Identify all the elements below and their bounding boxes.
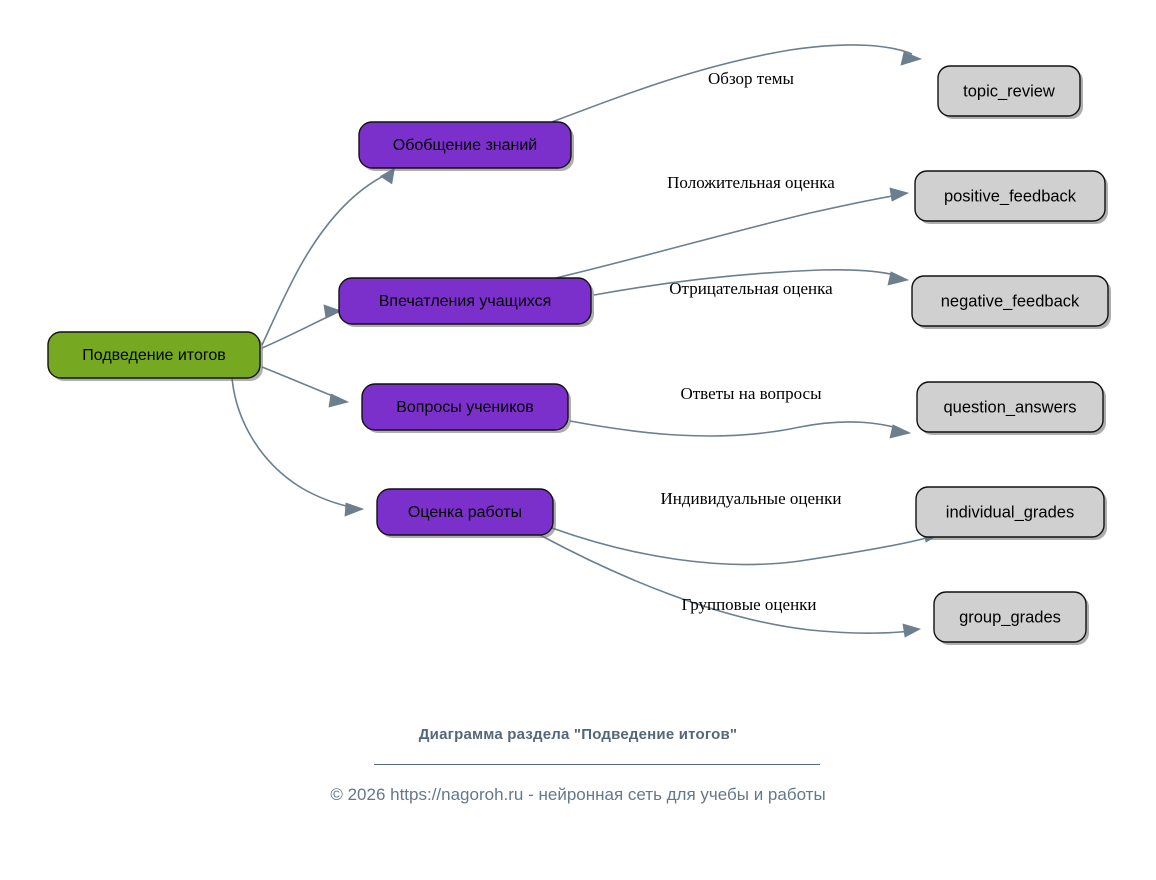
edge-label-question-answers: Ответы на вопросы [680,384,822,403]
edge-label-topic-review: Обзор темы [708,69,795,88]
footer-divider [374,764,820,765]
nodes-layer: Подведение итогов Обобщение знаний Впеча… [48,66,1111,645]
edge-label-positive-feedback: Положительная оценка [667,173,835,192]
node-leaf-question-answers[interactable]: question_answers [917,382,1106,435]
node-leaf-5-label: individual_grades [946,503,1074,521]
node-leaf-2-label: positive_feedback [944,187,1077,205]
node-branch-questions[interactable]: Вопросы учеников [362,384,571,433]
edge-labels-layer: Обзор темы Положительная оценка Отрицате… [660,69,841,614]
footer-credit: © 2026 https://nagoroh.ru - нейронная се… [0,785,1156,805]
node-leaf-4-label: question_answers [944,398,1077,416]
edge-label-individual-grades: Индивидуальные оценки [660,489,841,508]
node-root-summary[interactable]: Подведение итогов [48,332,263,381]
edge-questions-to-question-answers[interactable] [570,421,910,438]
node-branch-2-label: Впечатления учащихся [379,293,552,310]
node-branch-assessment[interactable]: Оценка работы [377,489,556,538]
node-branch-impressions[interactable]: Впечатления учащихся [339,278,594,327]
node-leaf-negative-feedback[interactable]: negative_feedback [912,276,1111,329]
node-leaf-3-label: negative_feedback [941,292,1080,310]
diagram-caption: Диаграмма раздела "Подведение итогов" [0,726,1156,743]
node-branch-1-label: Обобщение знаний [393,137,537,154]
node-branch-generalization[interactable]: Обобщение знаний [359,122,574,171]
node-leaf-topic-review[interactable]: topic_review [938,66,1083,119]
edge-root-to-questions[interactable] [262,367,348,407]
edge-impressions-to-positive-feedback[interactable] [556,188,908,278]
node-leaf-1-label: topic_review [963,82,1055,100]
edge-root-to-impressions[interactable] [262,305,341,348]
edge-assessment-to-individual-grades[interactable] [552,528,940,565]
diagram-svg: Обзор темы Положительная оценка Отрицате… [0,0,1156,880]
node-branch-3-label: Вопросы учеников [396,399,534,416]
node-branch-4-label: Оценка работы [408,504,522,521]
edge-label-negative-feedback: Отрицательная оценка [669,279,833,298]
node-leaf-positive-feedback[interactable]: positive_feedback [915,171,1108,224]
edge-root-to-assessment[interactable] [232,378,363,516]
edge-label-group-grades: Групповые оценки [681,595,816,614]
node-root-label: Подведение итогов [82,347,225,364]
node-leaf-individual-grades[interactable]: individual_grades [916,487,1107,540]
edges-layer [232,45,940,637]
node-leaf-group-grades[interactable]: group_grades [934,592,1089,645]
node-leaf-6-label: group_grades [959,608,1061,626]
diagram-canvas: Обзор темы Положительная оценка Отрицате… [0,0,1156,880]
